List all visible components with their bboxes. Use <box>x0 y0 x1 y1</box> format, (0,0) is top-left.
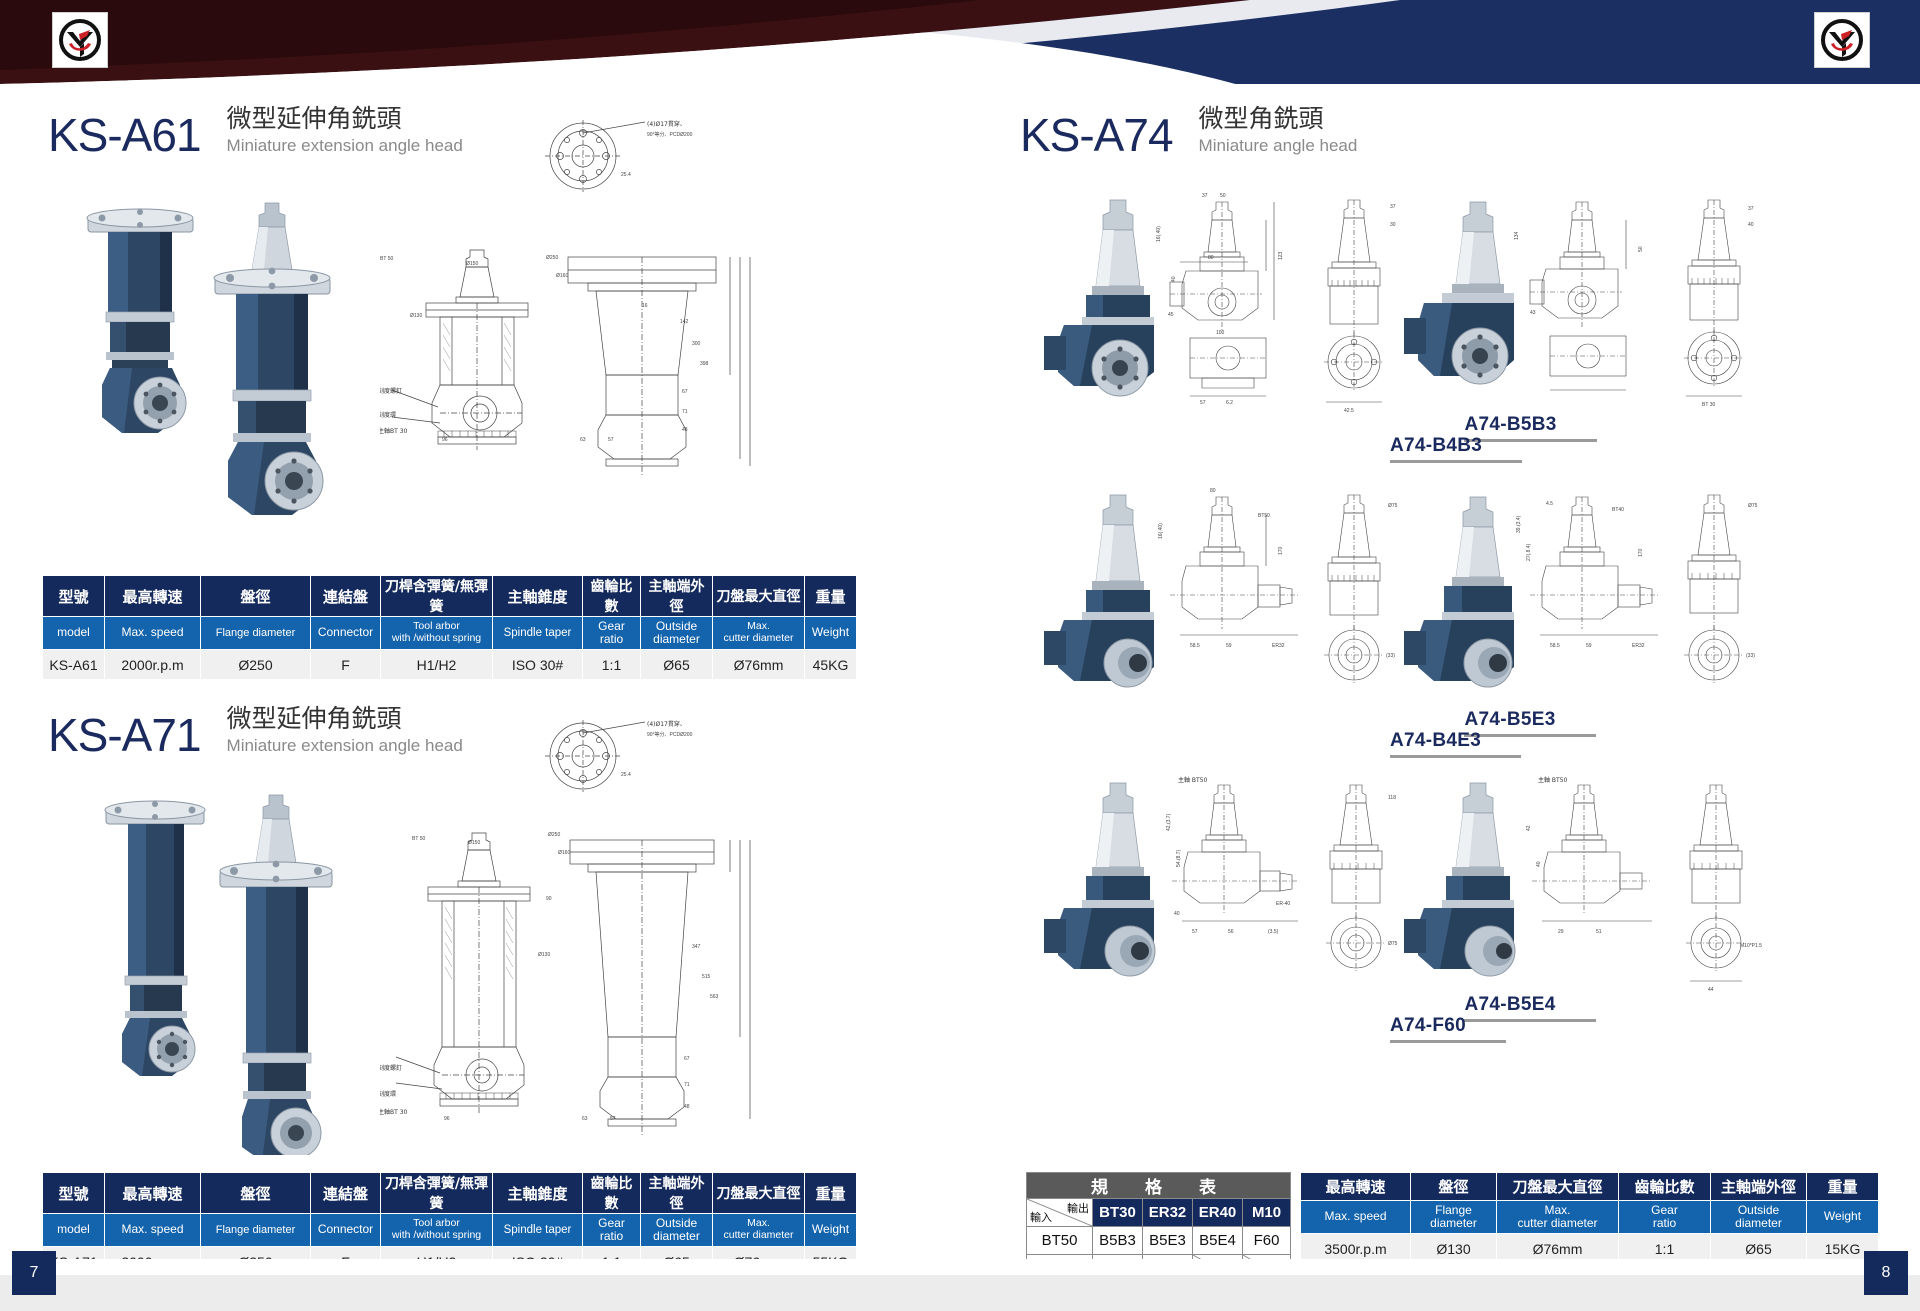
company-logo-left <box>52 12 108 68</box>
label-spindle-dia: Ø130 <box>410 313 422 319</box>
dim-b4b3-5: 40 <box>1748 222 1754 228</box>
th-en-flange-diameter: Flange diameter <box>201 617 311 650</box>
dim-142: 142 <box>680 319 689 325</box>
th-cn-gear-ratio: 齒輪比數 <box>583 576 641 617</box>
dim-16: 16 <box>642 303 648 309</box>
th-en-max-cutter-diameter: Max. cutter diameter <box>713 617 805 650</box>
th-en-weight: Weight <box>1807 1201 1879 1234</box>
spec-header-en-row: model Max. speed Flange diameter Connect… <box>43 617 857 650</box>
dim-b4b3-1: 134 <box>1514 231 1520 240</box>
th-en-outside-diameter: Outside diameter <box>1711 1201 1807 1234</box>
dim-b5e4-1: 主軸 BT50 <box>1178 776 1208 784</box>
th-en-gear-ratio: Gear ratio <box>583 617 641 650</box>
td-spindle-taper: ISO 30# <box>493 650 583 680</box>
footer-bar <box>0 1275 1920 1311</box>
matrix-cell-f60: F60 <box>1243 1227 1291 1255</box>
th-cn-flange-diameter: 盤徑 <box>201 1173 311 1214</box>
logo-icon <box>57 17 103 63</box>
dim-b5e3-7: ER32 <box>1272 643 1285 649</box>
th-cn-flange-diameter: 盤徑 <box>201 576 311 617</box>
dim-71: 71 <box>684 1082 690 1088</box>
product-name-cn: 微型延伸角銑頭 <box>227 105 463 134</box>
matrix-col-m10: M10 <box>1243 1199 1291 1227</box>
th-cn-model: 型號 <box>43 1173 105 1214</box>
matrix-cell-b5e4: B5E4 <box>1193 1227 1243 1255</box>
dim-b4e3-8: ER32 <box>1632 643 1645 649</box>
catalog-page: KS-A61 微型延伸角銑頭 Miniature extension angle… <box>0 0 1920 1311</box>
spec-table-ks-a61: 型號 最高轉速 盤徑 連結盤 刀桿含彈簧/無彈簧 主軸錐度 齒輪比數 主軸端外徑… <box>42 575 857 680</box>
variant-label-f60: A74-F60 <box>1390 1015 1506 1043</box>
dim-71: 71 <box>682 409 688 415</box>
matrix-cell-b5b3: B5B3 <box>1093 1227 1143 1255</box>
dim-b5e3-3: 16(.40) <box>1158 523 1164 539</box>
drawing-a71-annotations: BT 50 Ø150 Ø250 Ø160 Ø130 刻度螺釘 刻度環 主軸BT … <box>380 828 720 1128</box>
dim-b5b3-9: 57 <box>1200 400 1206 406</box>
th-cn-max-speed: 最高轉速 <box>105 576 201 617</box>
dim-b5e4-8: ER-40 <box>1276 901 1290 907</box>
dim-b5b3-7: 123 <box>1278 251 1284 260</box>
dim-f60-5: 51 <box>1596 929 1602 935</box>
th-cn-connector: 連結盤 <box>311 1173 381 1214</box>
photo-ks-a71-taper <box>220 795 332 1155</box>
dim-b4b3-2: 43 <box>1530 310 1536 316</box>
th-en-outside-diameter: Outside diameter <box>641 1214 713 1247</box>
th-cn-connector: 連結盤 <box>311 576 381 617</box>
td-gear-ratio: 1:1 <box>583 650 641 680</box>
matrix-corner-cell: 輸入 輸出 <box>1027 1199 1093 1227</box>
dim-b5e4-5: 57 <box>1192 929 1198 935</box>
dim-b4e3-6: 58.5 <box>1550 643 1560 649</box>
th-cn-max-speed: 最高轉速 <box>1301 1173 1411 1201</box>
dim-90: 90 <box>546 896 552 902</box>
th-cn-tool-arbor: 刀桿含彈簧/無彈簧 <box>381 576 493 617</box>
product-heading-ks-a71: KS-A71 微型延伸角銑頭 Miniature extension angle… <box>48 705 463 758</box>
dim-b4e3-4: 27(.8.4) <box>1526 543 1532 561</box>
dim-f60-6: M10*P1.5 <box>1740 943 1762 949</box>
spec-header-en-row: Max. speed Flange diameter Max. cutter d… <box>1301 1201 1879 1234</box>
th-en-model: model <box>43 617 105 650</box>
variant-drawing-b4e3: 4.5 BT40 39.(3.4) 27(.8.4) 170 58.5 59 E… <box>1390 485 1820 725</box>
label-spindle-bt30: 主軸BT 30 <box>380 1108 408 1116</box>
product-name-en: Miniature extension angle head <box>227 736 463 756</box>
dim-254: 25.4 <box>621 172 631 178</box>
page-footer: 7 8 <box>0 1259 1920 1311</box>
th-cn-outside-diameter: 主軸端外徑 <box>641 1173 713 1214</box>
th-cn-spindle-taper: 主軸錐度 <box>493 1173 583 1214</box>
th-en-weight: Weight <box>805 1214 857 1247</box>
th-en-max-speed: Max. speed <box>105 617 201 650</box>
spec-value-row: KS-A61 2000r.p.m Ø250 F H1/H2 ISO 30# 1:… <box>43 650 857 680</box>
dim-note-holes-2: 90°等分、PCDØ200 <box>647 731 693 738</box>
product-code: KS-A61 <box>48 112 201 158</box>
spec-header-en-row: model Max. speed Flange diameter Connect… <box>43 1214 857 1247</box>
dim-f60-4: 29 <box>1558 929 1564 935</box>
th-cn-max-speed: 最高轉速 <box>105 1173 201 1214</box>
dim-b5e4-3: 54.(8.7) <box>1176 849 1182 867</box>
th-en-spindle-taper: Spindle taper <box>493 617 583 650</box>
th-cn-weight: 重量 <box>805 1173 857 1214</box>
matrix-col-er32: ER32 <box>1143 1199 1193 1227</box>
dim-b5e4-2: 42.(3.7) <box>1166 813 1172 831</box>
variant-a74-b4e3: 4.5 BT40 39.(3.4) 27(.8.4) 170 58.5 59 E… <box>1390 485 1920 758</box>
variant-drawing-b4b3: 134 43 50 <box>1390 190 1820 430</box>
matrix-corner-input: 輸入 <box>1030 1209 1052 1225</box>
variant-a74-f60: 主軸 BT50 42 40 29 51 <box>1390 775 1920 1043</box>
th-en-tool-arbor: Tool arbor with /without spring <box>381 617 493 650</box>
th-cn-tool-arbor: 刀桿含彈簧/無彈簧 <box>381 1173 493 1214</box>
label-bt50: BT 50 <box>380 256 393 262</box>
dim-b4e3-2: BT40 <box>1612 507 1624 513</box>
dim-b4b3-4: 37 <box>1748 206 1754 212</box>
dim-b4b3-6: BT 30 <box>1702 402 1715 408</box>
td-flange-diameter: Ø250 <box>201 650 311 680</box>
dim-f60-7: 44 <box>1708 987 1714 993</box>
dim-b5b3-6: 45 <box>1168 312 1174 318</box>
th-cn-max-cutter-diameter: 刀盤最大直徑 <box>713 576 805 617</box>
dim-b5b3-13: 42.5 <box>1344 408 1354 414</box>
dim-57: 57 <box>608 437 614 443</box>
th-en-connector: Connector <box>311 617 381 650</box>
th-en-outside-diameter: Outside diameter <box>641 617 713 650</box>
th-en-connector: Connector <box>311 1214 381 1247</box>
dim-96: 96 <box>442 437 448 443</box>
dim-b5e3-5: 58.5 <box>1190 643 1200 649</box>
dim-63: 63 <box>582 1116 588 1122</box>
dim-b5e4-7: (3.5) <box>1268 929 1279 935</box>
label-body-dia: Ø250 <box>546 255 558 261</box>
matrix-corner-output: 輸出 <box>1067 1200 1089 1216</box>
label-flange-dia2: Ø160 <box>558 850 570 856</box>
dim-f60-1: 主軸 BT50 <box>1538 776 1568 784</box>
dim-b5e3-2: BT50 <box>1258 513 1270 519</box>
product-heading-ks-a61: KS-A61 微型延伸角銑頭 Miniature extension angle… <box>48 105 463 158</box>
dim-b5b3-2: 50 <box>1220 193 1226 199</box>
variant-a74-b4b3: 134 43 50 <box>1390 190 1920 463</box>
dim-f60-2: 42 <box>1526 825 1532 831</box>
matrix-row-bt50: BT50 B5B3 B5E3 B5E4 F60 <box>1027 1227 1291 1255</box>
th-cn-gear-ratio: 齒輪比數 <box>1619 1173 1711 1201</box>
drawing-a61-annotations: BT 50 Ø150 Ø250 Ø160 Ø130 刻度螺釘 刻度環 主軸BT … <box>380 245 720 445</box>
dim-b4e3-7: 59 <box>1586 643 1592 649</box>
dim-note-holes: (4)Ø17貫穿、 <box>647 120 686 128</box>
td-max-cutter-diameter: Ø76mm <box>713 650 805 680</box>
th-en-max-speed: Max. speed <box>1301 1201 1411 1234</box>
photo-ks-a71-front <box>105 801 205 1076</box>
product-code: KS-A74 <box>1020 112 1173 158</box>
matrix-title: 規 格 表 <box>1027 1173 1291 1199</box>
variant-drawing-f60: 主軸 BT50 42 40 29 51 <box>1390 775 1820 1010</box>
dim-b5b3-10: 6.2 <box>1226 400 1233 406</box>
matrix-col-bt30: BT30 <box>1093 1199 1143 1227</box>
spec-header-cn-row: 型號 最高轉速 盤徑 連結盤 刀桿含彈簧/無彈簧 主軸錐度 齒輪比數 主軸端外徑… <box>43 1173 857 1214</box>
matrix-cell-b5e3: B5E3 <box>1143 1227 1193 1255</box>
label-flange-dia: Ø150 <box>466 261 478 267</box>
label-scale-screw: 刻度螺釘 <box>380 387 402 395</box>
td-weight: 45KG <box>805 650 857 680</box>
dim-note-holes-2: 90°等分、PCDØ200 <box>647 131 693 138</box>
dim-b5b3-3: 80 <box>1208 255 1214 261</box>
spec-header-cn-row: 最高轉速 盤徑 刀盤最大直徑 齒輪比數 主軸端外徑 重量 <box>1301 1173 1879 1201</box>
label-spindle-bt30: 主軸BT 30 <box>380 427 408 435</box>
label-scale-ring: 刻度環 <box>380 1090 396 1098</box>
dim-300: 300 <box>692 341 701 347</box>
th-cn-outside-diameter: 主軸端外徑 <box>641 576 713 617</box>
dim-b5b3-4: 16(.40) <box>1156 226 1162 242</box>
dim-67: 67 <box>682 389 688 395</box>
td-connector: F <box>311 650 381 680</box>
th-en-max-cutter-diameter: Max. cutter diameter <box>1497 1201 1619 1234</box>
th-cn-flange-diameter: 盤徑 <box>1411 1173 1497 1201</box>
spec-table-ks-a74: 最高轉速 盤徑 刀盤最大直徑 齒輪比數 主軸端外徑 重量 Max. speed … <box>1300 1172 1879 1264</box>
label-flange-dia: Ø150 <box>468 840 480 846</box>
td-max-speed: 2000r.p.m <box>105 650 201 680</box>
dim-b5e4-6: 56 <box>1228 929 1234 935</box>
dim-48: 48 <box>684 1104 690 1110</box>
th-cn-max-cutter-diameter: 刀盤最大直徑 <box>1497 1173 1619 1201</box>
dim-b5e3-1: 80 <box>1210 488 1216 494</box>
page-number-left: 7 <box>12 1251 56 1295</box>
th-en-tool-arbor: Tool arbor with /without spring <box>381 1214 493 1247</box>
dim-63: 63 <box>580 437 586 443</box>
product-name-en: Miniature angle head <box>1199 136 1358 156</box>
dim-57: 57 <box>610 1116 616 1122</box>
label-bt50: BT 50 <box>412 836 425 842</box>
th-cn-outside-diameter: 主軸端外徑 <box>1711 1173 1807 1201</box>
dim-398: 398 <box>700 361 709 367</box>
th-en-gear-ratio: Gear ratio <box>583 1214 641 1247</box>
product-name-en: Miniature extension angle head <box>227 136 463 156</box>
dim-b5b3-1: 37 <box>1202 193 1208 199</box>
label-scale-screw: 刻度螺釘 <box>380 1064 402 1072</box>
td-model: KS-A61 <box>43 650 105 680</box>
th-en-weight: Weight <box>805 617 857 650</box>
product-heading-ks-a74: KS-A74 微型角銑頭 Miniature angle head <box>1020 105 1357 158</box>
photo-ks-a61-taper <box>214 203 330 515</box>
dim-b5e3-4: 170 <box>1278 546 1284 555</box>
th-cn-weight: 重量 <box>805 576 857 617</box>
matrix-col-er40: ER40 <box>1193 1199 1243 1227</box>
dim-b5e3-6: 59 <box>1226 643 1232 649</box>
product-name-cn: 微型角銑頭 <box>1199 105 1358 134</box>
th-en-max-cutter-diameter: Max. cutter diameter <box>713 1214 805 1247</box>
variant-label-b4e3: A74-B4E3 <box>1390 730 1521 758</box>
label-spindle-dia: Ø130 <box>538 952 550 958</box>
dim-b4e3-10: (33) <box>1746 653 1755 659</box>
th-cn-model: 型號 <box>43 576 105 617</box>
th-en-spindle-taper: Spindle taper <box>493 1214 583 1247</box>
th-en-gear-ratio: Gear ratio <box>1619 1201 1711 1234</box>
label-body-dia: Ø250 <box>548 832 560 838</box>
label-scale-ring: 刻度環 <box>380 411 396 419</box>
dim-254: 25.4 <box>621 772 631 778</box>
drawing-a61-flange-face: (4)Ø17貫穿、 90°等分、PCDØ200 25.4 <box>515 118 745 198</box>
dim-note-holes: (4)Ø17貫穿、 <box>647 720 686 728</box>
product-code: KS-A71 <box>48 712 201 758</box>
th-en-flange-diameter: Flange diameter <box>201 1214 311 1247</box>
variant-label-b4b3: A74-B4B3 <box>1390 435 1522 463</box>
th-cn-max-cutter-diameter: 刀盤最大直徑 <box>713 1173 805 1214</box>
product-name-cn: 微型延伸角銑頭 <box>227 705 463 734</box>
dim-48: 48 <box>682 427 688 433</box>
spec-header-cn-row: 型號 最高轉速 盤徑 連結盤 刀桿含彈簧/無彈簧 主軸錐度 齒輪比數 主軸端外徑… <box>43 576 857 617</box>
th-cn-weight: 重量 <box>1807 1173 1879 1201</box>
dim-b5e4-4: 40 <box>1174 911 1180 917</box>
top-banner <box>0 0 1920 88</box>
matrix-row-input-bt50: BT50 <box>1027 1227 1093 1255</box>
logo-icon <box>1819 17 1865 63</box>
dim-67: 67 <box>684 1056 690 1062</box>
company-logo-right <box>1814 12 1870 68</box>
td-outside-diameter: Ø65 <box>641 650 713 680</box>
dim-b4e3-3: 39.(3.4) <box>1516 515 1522 533</box>
drawing-a71-flange-face: (4)Ø17貫穿、 90°等分、PCDØ200 25.4 <box>515 718 745 798</box>
dim-515: 515 <box>702 974 711 980</box>
label-flange-dia2: Ø160 <box>556 273 568 279</box>
dim-b4e3-9: Ø75 <box>1748 503 1758 509</box>
dim-b5b3-8: 100 <box>1216 330 1225 336</box>
dim-96: 96 <box>444 1116 450 1122</box>
th-cn-gear-ratio: 齒輪比數 <box>583 1173 641 1214</box>
th-en-flange-diameter: Flange diameter <box>1411 1201 1497 1234</box>
th-en-max-speed: Max. speed <box>105 1214 201 1247</box>
dim-563: 563 <box>710 994 719 1000</box>
th-en-model: model <box>43 1214 105 1247</box>
photo-ks-a61-front <box>87 209 193 433</box>
dim-347: 347 <box>692 944 701 950</box>
th-cn-spindle-taper: 主軸錐度 <box>493 576 583 617</box>
td-tool-arbor: H1/H2 <box>381 650 493 680</box>
dim-b4b3-3: 50 <box>1638 246 1644 252</box>
dim-b4e3-5: 170 <box>1638 548 1644 557</box>
page-number-right: 8 <box>1864 1251 1908 1295</box>
dim-b5b3-5: 40 <box>1171 276 1177 282</box>
dim-b4e3-1: 4.5 <box>1546 501 1553 507</box>
dim-f60-3: 40 <box>1536 861 1542 867</box>
